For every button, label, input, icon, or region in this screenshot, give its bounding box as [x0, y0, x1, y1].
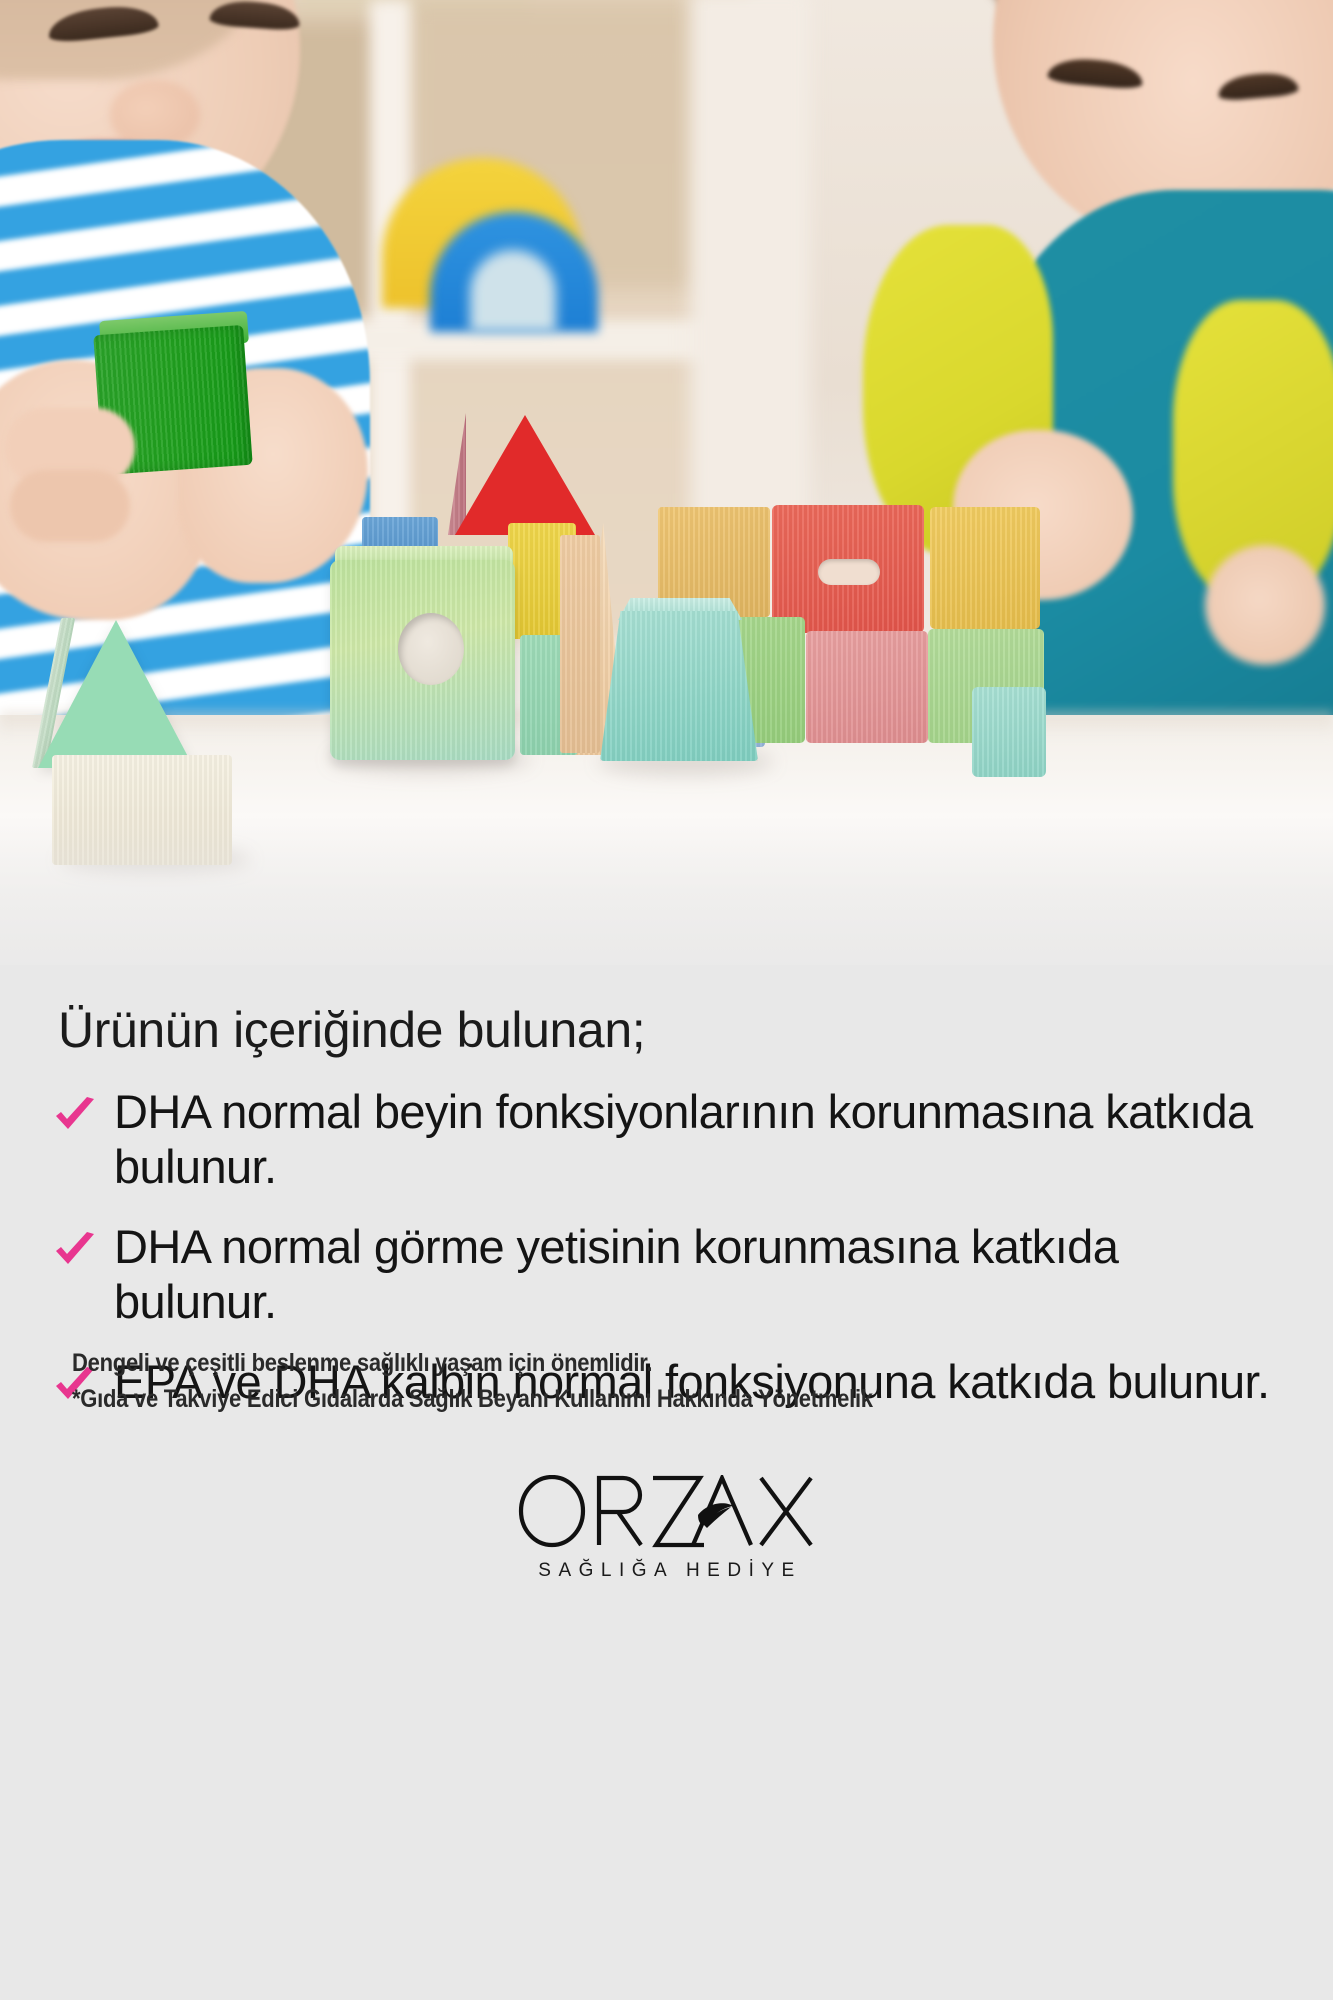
- orzax-leaf-icon: [698, 1503, 733, 1528]
- photo-scene: [0, 0, 1333, 1005]
- brand-tagline: SAĞLIĞA HEDİYE: [531, 1560, 801, 1582]
- brand-logo: SAĞLIĞA HEDİYE: [0, 1475, 1333, 1582]
- block-green-triangle: [38, 620, 194, 768]
- block-red-triangle: [455, 415, 595, 535]
- orzax-wordmark: [517, 1475, 817, 1554]
- page-title: Ürünün içeriğinde bulunan;: [52, 965, 1281, 1058]
- left-child-finger-2: [10, 470, 130, 542]
- check-icon: [52, 1219, 114, 1275]
- block-teal-trapezoid: [600, 611, 758, 761]
- block-hole-opening: [398, 613, 464, 685]
- list-item: DHA normal görme yetisinin korunmasına k…: [52, 1219, 1281, 1330]
- list-item: DHA normal beyin fonksiyonlarının korunm…: [52, 1084, 1281, 1195]
- disclaimer-line-1: Dengeli ve çeşitli beslenme sağlıklı yaş…: [72, 1345, 1093, 1381]
- block-red-box-handle: [818, 559, 880, 585]
- disclaimer-line-2: *Gıda ve Takviye Edici Gıdalarda Sağlık …: [72, 1381, 1093, 1417]
- check-icon: [52, 1084, 114, 1140]
- claims-content: Ürünün içeriğinde bulunan; DHA normal be…: [0, 965, 1333, 2000]
- hero-photo: [0, 0, 1333, 1005]
- product-claims-poster: Ürünün içeriğinde bulunan; DHA normal be…: [0, 0, 1333, 2000]
- block-pink-rect: [806, 631, 928, 743]
- block-tan-column: [560, 535, 600, 753]
- toy-arch-blue-inner: [470, 250, 556, 332]
- right-child-hand-right: [1205, 545, 1325, 665]
- list-item-label: DHA normal görme yetisinin korunmasına k…: [114, 1219, 1281, 1330]
- block-yellow-right: [930, 507, 1040, 629]
- block-teal-edge: [972, 687, 1046, 777]
- list-item-label: DHA normal beyin fonksiyonlarının korunm…: [114, 1084, 1281, 1195]
- disclaimer: Dengeli ve çeşitli beslenme sağlıklı yaş…: [72, 1345, 1232, 1418]
